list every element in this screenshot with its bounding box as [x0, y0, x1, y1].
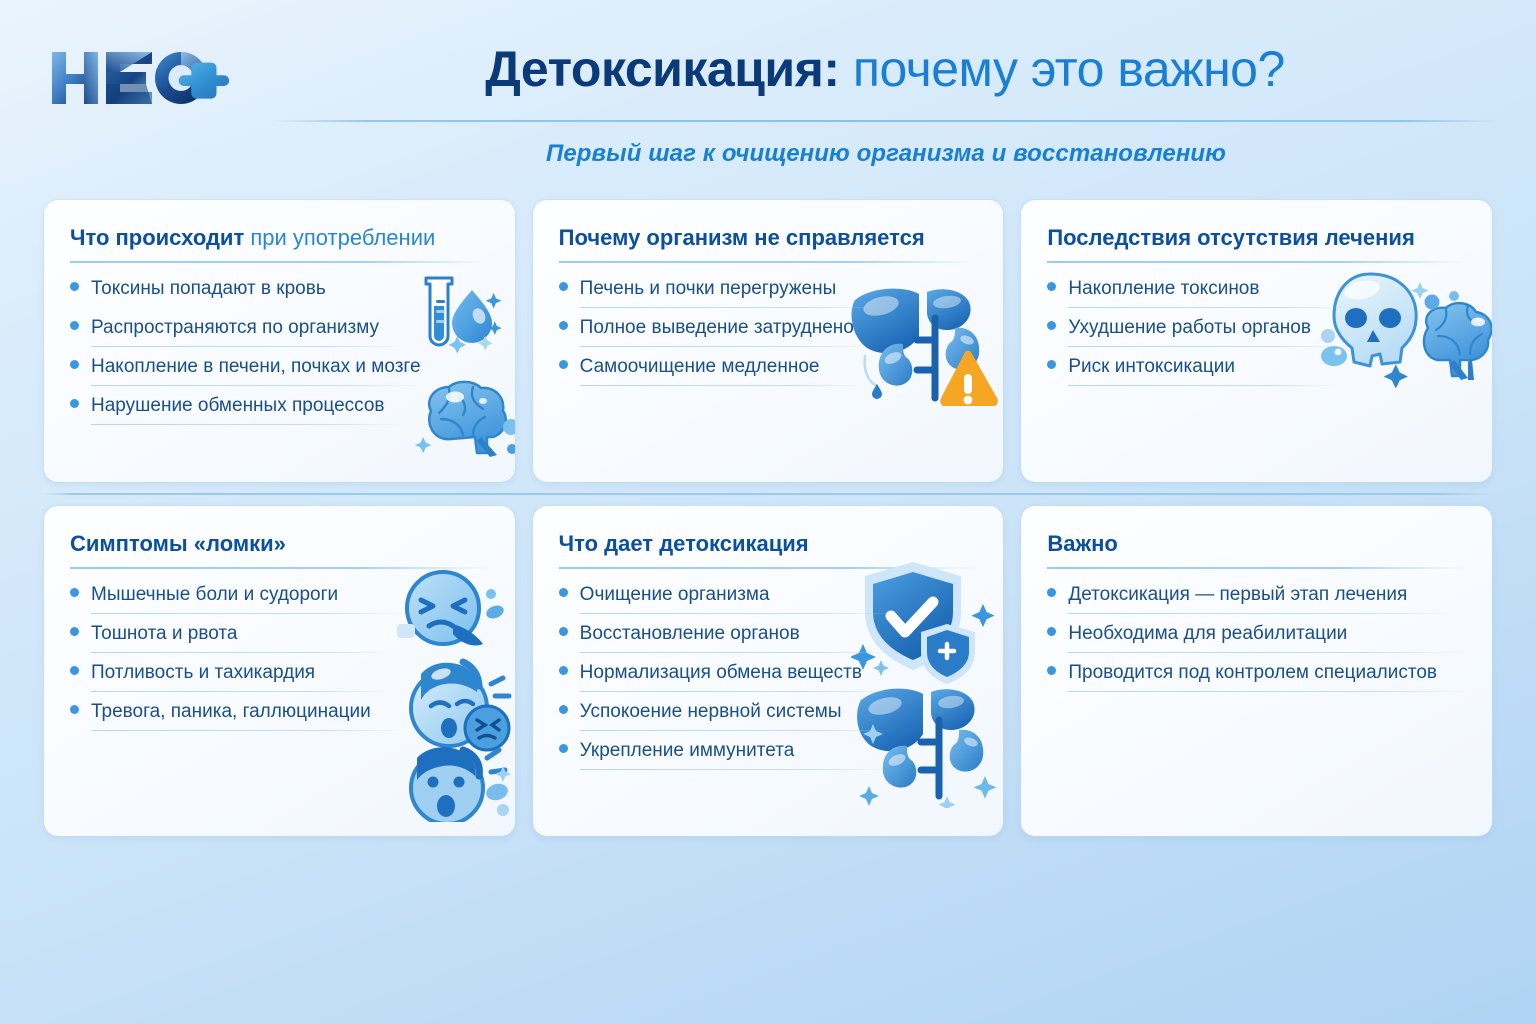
- card-consequences[interactable]: Последствия отсутствия лечения: [1021, 200, 1492, 482]
- card-title-divider: [559, 567, 978, 569]
- bullet-dot: [1047, 282, 1056, 291]
- bullet-dot: [70, 666, 79, 675]
- bullet-dot: [559, 666, 568, 675]
- list-item[interactable]: Самоочищение медленное: [559, 355, 978, 386]
- list-item-label: Накопление токсинов: [1068, 277, 1259, 301]
- bullet-dot: [559, 282, 568, 291]
- list-item-label: Нормализация обмена веществ: [580, 661, 862, 685]
- list-item[interactable]: Распространяются по организму: [70, 316, 489, 347]
- bullet-dot: [1047, 360, 1056, 369]
- card-title-light: при употреблении: [244, 225, 435, 250]
- card-title: Что дает детоксикация: [559, 530, 978, 558]
- card-title-strong: Последствия отсутствия лечения: [1047, 225, 1414, 250]
- list-item[interactable]: Риск интоксикации: [1047, 355, 1466, 386]
- bullet-dot: [70, 360, 79, 369]
- card-what-happens[interactable]: Что происходит при употреблении: [44, 200, 515, 482]
- card-bullet-list: Печень и почки перегружены Полное выведе…: [559, 277, 978, 386]
- list-item-label: Тревога, паника, галлюцинации: [91, 700, 371, 724]
- list-item[interactable]: Нормализация обмена веществ: [559, 661, 978, 692]
- page-title: Детоксикация: почему это важно?: [270, 38, 1500, 100]
- list-item-divider: [580, 769, 884, 770]
- list-item-divider: [580, 730, 892, 731]
- page-header: Детоксикация: почему это важно? Первый ш…: [0, 0, 1536, 190]
- card-title-strong: Что дает детоксикация: [559, 531, 809, 556]
- list-item-label: Мышечные боли и судороги: [91, 583, 338, 607]
- cards-row-bottom: Симптомы «ломки»: [0, 506, 1536, 836]
- bullet-dot: [1047, 588, 1056, 597]
- list-item-label: Очищение организма: [580, 583, 770, 607]
- bullet-dot: [70, 627, 79, 636]
- list-item[interactable]: Накопление в печени, почках и мозге: [70, 355, 489, 386]
- card-withdrawal-symptoms[interactable]: Симптомы «ломки»: [44, 506, 515, 836]
- card-title-strong: Симптомы «ломки»: [70, 531, 286, 556]
- card-title-strong: Важно: [1047, 531, 1117, 556]
- bullet-dot: [70, 321, 79, 330]
- bullet-dot: [70, 399, 79, 408]
- list-item[interactable]: Проводится под контролем специалистов: [1047, 661, 1466, 692]
- bullet-dot: [1047, 666, 1056, 675]
- card-title: Последствия отсутствия лечения: [1047, 224, 1466, 252]
- list-item-divider: [91, 424, 401, 425]
- list-item-label: Распространяются по организму: [91, 316, 379, 340]
- list-item[interactable]: Нарушение обменных процессов: [70, 394, 489, 425]
- list-item-label: Накопление в печени, почках и мозге: [91, 355, 421, 379]
- list-item-divider: [91, 346, 407, 347]
- card-bullet-list: Накопление токсинов Ухудшение работы орг…: [1047, 277, 1466, 386]
- bullet-dot: [559, 588, 568, 597]
- list-item[interactable]: Укрепление иммунитета: [559, 739, 978, 770]
- bullet-dot: [1047, 627, 1056, 636]
- page-title-strong: Детоксикация:: [485, 41, 839, 97]
- list-item-divider: [91, 652, 396, 653]
- card-title-divider: [70, 567, 489, 569]
- list-item[interactable]: Восстановление органов: [559, 622, 978, 653]
- card-title-strong: Что происходит: [70, 225, 244, 250]
- list-item-divider: [580, 613, 898, 614]
- list-item-label: Тошнота и рвота: [91, 622, 237, 646]
- cards-row-top: Что происходит при употреблении: [0, 200, 1536, 482]
- card-title-divider: [1047, 567, 1466, 569]
- list-item-divider: [1068, 346, 1348, 347]
- list-item-label: Токсины попадают в кровь: [91, 277, 326, 301]
- card-detox-benefits[interactable]: Что дает детоксикация: [533, 506, 1004, 836]
- list-item-divider: [1068, 385, 1338, 386]
- bullet-dot: [1047, 321, 1056, 330]
- list-item-label: Риск интоксикации: [1068, 355, 1235, 379]
- list-item[interactable]: Потливость и тахикардия: [70, 661, 489, 692]
- list-item-divider: [1068, 652, 1468, 653]
- list-item[interactable]: Очищение организма: [559, 583, 978, 614]
- card-title: Почему организм не справляется: [559, 224, 978, 252]
- list-item-label: Восстановление органов: [580, 622, 800, 646]
- list-item-divider: [91, 730, 403, 731]
- bullet-dot: [70, 588, 79, 597]
- list-item-divider: [580, 691, 896, 692]
- card-important[interactable]: Важно Детоксикация — первый этап лечения…: [1021, 506, 1492, 836]
- page-title-light: почему это важно?: [840, 41, 1285, 97]
- list-item-divider: [580, 652, 896, 653]
- card-bullet-list: Токсины попадают в кровь Распространяютс…: [70, 277, 489, 425]
- list-item-label: Необходима для реабилитации: [1068, 622, 1347, 646]
- bullet-dot: [559, 744, 568, 753]
- card-title-divider: [1047, 261, 1466, 263]
- list-item[interactable]: Полное выведение затруднено: [559, 316, 978, 347]
- bullet-dot: [70, 282, 79, 291]
- card-title: Симптомы «ломки»: [70, 530, 489, 558]
- list-item-divider: [580, 346, 870, 347]
- list-item-label: Укрепление иммунитета: [580, 739, 795, 763]
- list-item[interactable]: Ухудшение работы органов: [1047, 316, 1466, 347]
- list-item-divider: [1068, 613, 1454, 614]
- list-item[interactable]: Необходима для реабилитации: [1047, 622, 1466, 653]
- list-item[interactable]: Тревога, паника, галлюцинации: [70, 700, 489, 731]
- header-divider: [270, 120, 1502, 122]
- card-title: Важно: [1047, 530, 1466, 558]
- list-item-label: Проводится под контролем специалистов: [1068, 661, 1437, 685]
- page-subtitle: Первый шаг к очищению организма и восста…: [270, 140, 1502, 168]
- row-separator: [44, 493, 1492, 495]
- list-item-divider: [580, 307, 880, 308]
- card-title-strong: Почему организм не справляется: [559, 225, 925, 250]
- bullet-dot: [70, 705, 79, 714]
- list-item-divider: [91, 691, 391, 692]
- list-item-label: Полное выведение затруднено: [580, 316, 854, 340]
- neo-plus-logo: [44, 42, 254, 114]
- list-item-label: Ухудшение работы органов: [1068, 316, 1311, 340]
- list-item[interactable]: Тошнота и рвота: [70, 622, 489, 653]
- cards-grid: Что происходит при употреблении: [0, 200, 1536, 836]
- list-item-divider: [91, 385, 421, 386]
- list-item[interactable]: Мышечные боли и судороги: [70, 583, 489, 614]
- list-item[interactable]: Успокоение нервной системы: [559, 700, 978, 731]
- bullet-dot: [559, 360, 568, 369]
- list-item-label: Самоочищение медленное: [580, 355, 820, 379]
- bullet-dot: [559, 321, 568, 330]
- list-item-divider: [580, 385, 862, 386]
- list-item[interactable]: Накопление токсинов: [1047, 277, 1466, 308]
- card-title-divider: [559, 261, 978, 263]
- list-item[interactable]: Токсины попадают в кровь: [70, 277, 489, 308]
- list-item-label: Нарушение обменных процессов: [91, 394, 385, 418]
- list-item-label: Детоксикация — первый этап лечения: [1068, 583, 1407, 607]
- card-title-divider: [70, 261, 489, 263]
- bullet-dot: [559, 705, 568, 714]
- card-why-body-fails[interactable]: Почему организм не справляется: [533, 200, 1004, 482]
- list-item[interactable]: Детоксикация — первый этап лечения: [1047, 583, 1466, 614]
- list-item-divider: [1068, 691, 1472, 692]
- list-item-label: Успокоение нервной системы: [580, 700, 842, 724]
- list-item-label: Печень и почки перегружены: [580, 277, 837, 301]
- card-bullet-list: Детоксикация — первый этап лечения Необх…: [1047, 583, 1466, 692]
- card-bullet-list: Мышечные боли и судороги Тошнота и рвота…: [70, 583, 489, 731]
- bullet-dot: [559, 627, 568, 636]
- card-title: Что происходит при употреблении: [70, 224, 489, 252]
- list-item-divider: [91, 613, 403, 614]
- list-item[interactable]: Печень и почки перегружены: [559, 277, 978, 308]
- card-bullet-list: Очищение организма Восстановление органо…: [559, 583, 978, 770]
- list-item-label: Потливость и тахикардия: [91, 661, 315, 685]
- list-item-divider: [1068, 307, 1353, 308]
